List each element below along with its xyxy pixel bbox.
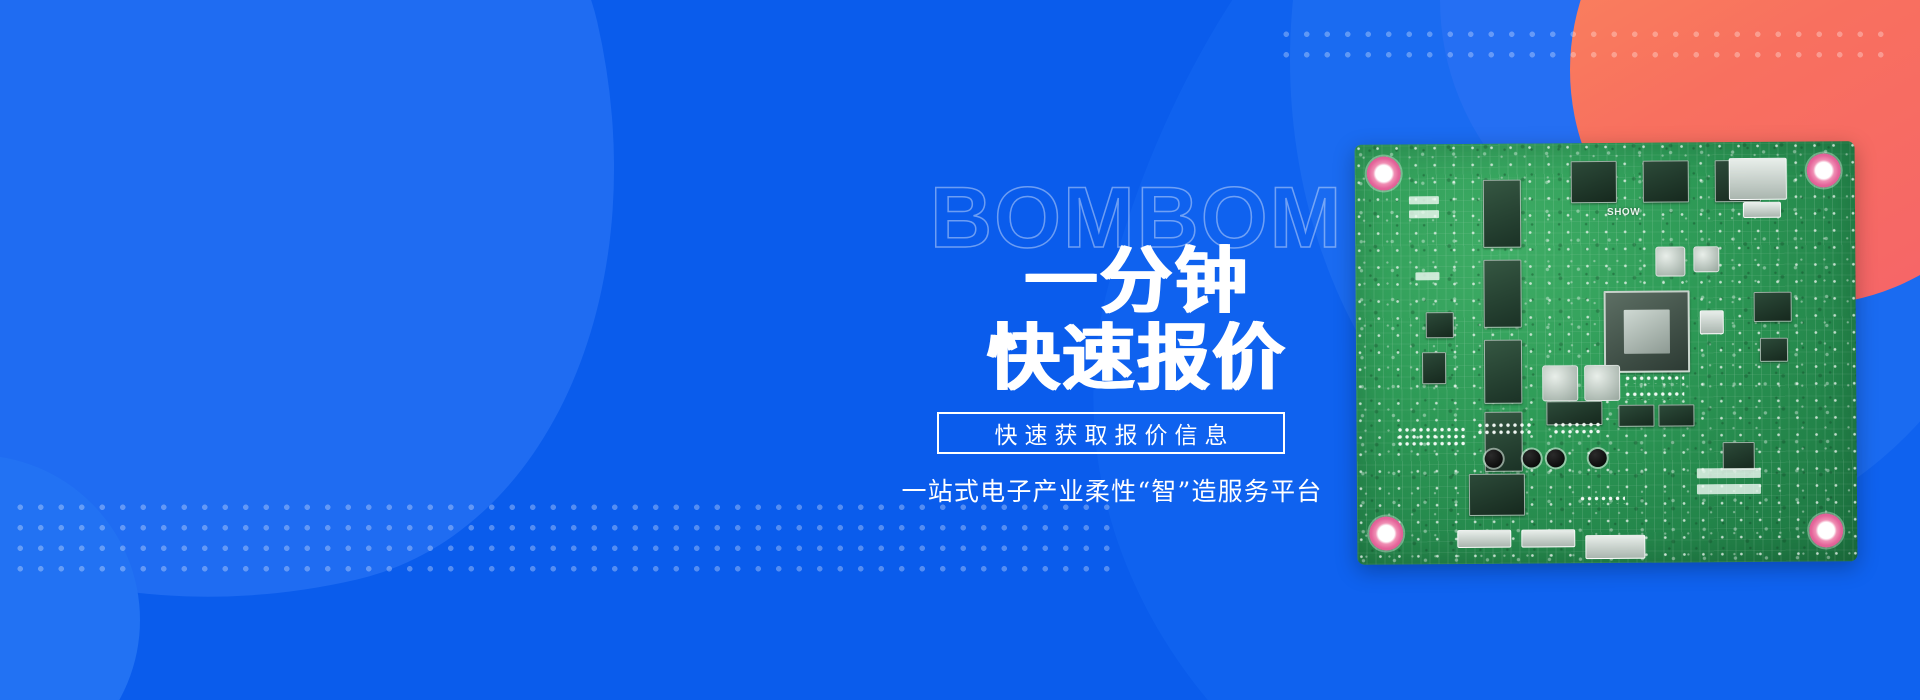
pcb-ic-chip [1618, 405, 1654, 427]
pcb-pin-header [1552, 421, 1602, 436]
pcb-mounting-hole [1367, 156, 1401, 190]
pcb-ic-chip [1426, 312, 1454, 338]
pcb-ic-chip [1658, 404, 1694, 426]
pcb-ic-chip [1469, 474, 1525, 516]
pcb-pad [1697, 468, 1761, 478]
dot-grid-bottom-left [10, 497, 1124, 580]
pcb-mounting-hole [1807, 153, 1841, 187]
pcb-connector [1521, 529, 1575, 547]
pcb-pad [1415, 272, 1439, 280]
pcb-ic-chip [1754, 292, 1792, 322]
promo-banner: SHOW BOMBOM 一分钟 快速报价 快速获取报价信息 一站式电子产业柔性“… [0, 0, 1920, 700]
pcb-ic-chip [1484, 340, 1522, 404]
dot-grid-top-right [1276, 24, 1886, 66]
pcb-board-image: SHOW [1356, 143, 1856, 563]
pcb-pin-header [1624, 374, 1684, 383]
pcb-mounting-hole [1809, 513, 1843, 547]
pcb-ic-chip [1723, 442, 1755, 470]
pcb-inductor [1584, 365, 1620, 401]
pcb-ic-chip [1483, 180, 1521, 248]
pcb-pin-header [1476, 422, 1532, 437]
pcb-connector [1743, 202, 1781, 218]
pcb-mounting-hole [1369, 516, 1403, 550]
pcb-pad [1697, 484, 1761, 494]
pcb-inductor [1655, 246, 1685, 276]
pcb-capacitor [1485, 450, 1503, 468]
pcb-processor-chip [1604, 290, 1691, 373]
pcb-ic-chip [1760, 338, 1788, 362]
pcb-inductor [1542, 365, 1578, 401]
pcb-pin-header [1397, 426, 1467, 448]
pcb-ic-chip [1483, 260, 1521, 328]
pcb-substrate: SHOW [1355, 141, 1858, 564]
pcb-pad [1409, 210, 1439, 218]
pcb-connector [1729, 158, 1787, 200]
pcb-connector [1700, 310, 1724, 334]
pcb-capacitor [1589, 449, 1607, 467]
pcb-pin-header [1579, 495, 1625, 504]
pcb-logo-text: SHOW [1607, 207, 1640, 218]
pcb-ic-chip [1571, 161, 1617, 203]
pcb-ic-chip [1422, 352, 1446, 384]
pcb-pin-header [1624, 390, 1684, 399]
pcb-inductor [1693, 246, 1719, 272]
pcb-connector [1585, 535, 1645, 559]
pcb-pad [1409, 196, 1439, 204]
pcb-ic-chip [1643, 160, 1689, 202]
pcb-connector [1457, 530, 1511, 548]
pcb-capacitor [1523, 449, 1541, 467]
pcb-capacitor [1547, 449, 1565, 467]
